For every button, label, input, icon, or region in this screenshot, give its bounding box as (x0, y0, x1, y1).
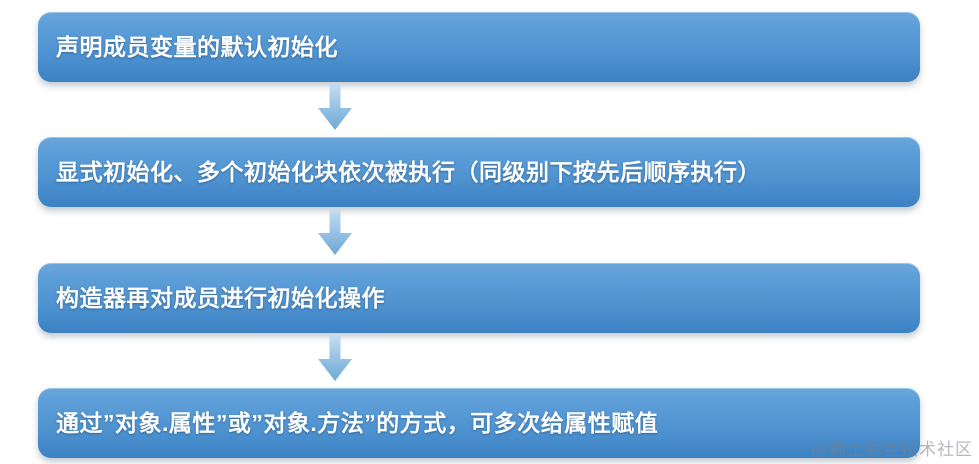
flow-step-4-label: 通过”对象.属性”或”对象.方法”的方式，可多次给属性赋值 (56, 410, 658, 436)
flow-step-4[interactable]: 通过”对象.属性”或”对象.方法”的方式，可多次给属性赋值 (38, 388, 920, 458)
flow-step-1[interactable]: 声明成员变量的默认初始化 (38, 12, 920, 82)
flow-step-3-label: 构造器再对成员进行初始化操作 (56, 285, 385, 311)
arrow-down-icon (313, 335, 357, 383)
flow-connector-1 (313, 84, 357, 132)
arrow-down-icon (313, 84, 357, 132)
flowchart-canvas: 声明成员变量的默认初始化 显式初始化、多个初始化块依次被执行（同级别下按先后顺序… (0, 0, 979, 464)
flow-step-3[interactable]: 构造器再对成员进行初始化操作 (38, 263, 920, 333)
flow-step-2-label: 显式初始化、多个初始化块依次被执行（同级别下按先后顺序执行） (56, 159, 761, 185)
flow-step-1-label: 声明成员变量的默认初始化 (56, 34, 338, 60)
arrow-down-icon (313, 209, 357, 257)
flow-connector-3 (313, 335, 357, 383)
flow-connector-2 (313, 209, 357, 257)
flow-step-2[interactable]: 显式初始化、多个初始化块依次被执行（同级别下按先后顺序执行） (38, 137, 920, 207)
